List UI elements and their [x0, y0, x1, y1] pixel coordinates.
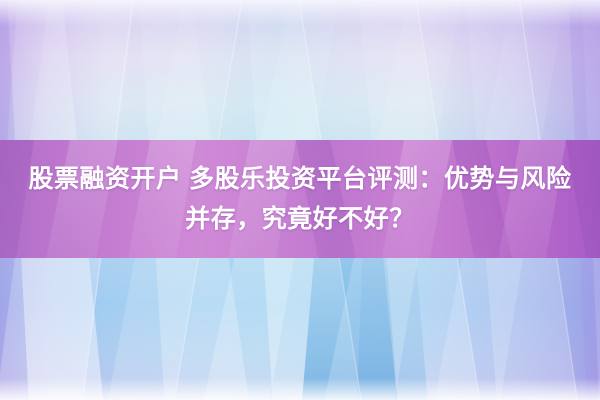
headline-band: 股票融资开户 多股乐投资平台评测：优势与风险 并存，究竟好不好？: [0, 140, 600, 258]
headline-text: 股票融资开户 多股乐投资平台评测：优势与风险 并存，究竟好不好？: [0, 159, 600, 239]
headline-line-2: 并存，究竟好不好？: [6, 199, 594, 239]
promo-banner: 股票融资开户 多股乐投资平台评测：优势与风险 并存，究竟好不好？: [0, 0, 600, 400]
headline-line-1: 股票融资开户 多股乐投资平台评测：优势与风险: [6, 159, 594, 199]
